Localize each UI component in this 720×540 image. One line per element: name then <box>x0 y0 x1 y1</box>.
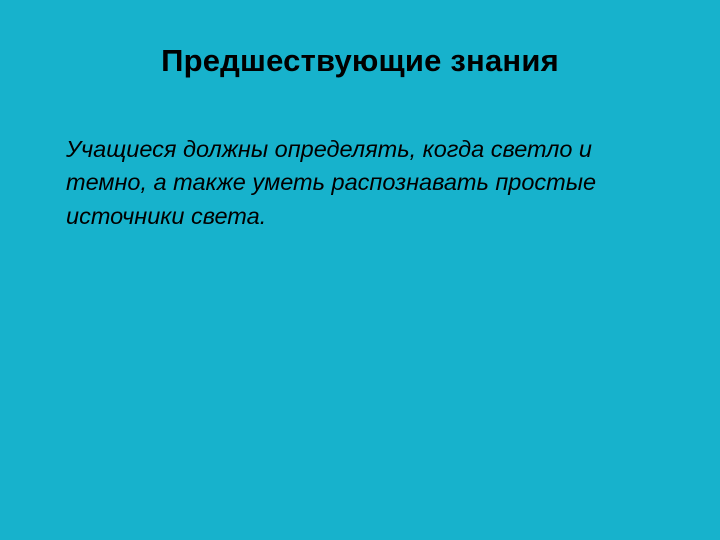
page-title: Предшествующие знания <box>0 44 720 78</box>
slide-canvas: Предшествующие знания Учащиеся должны оп… <box>0 0 720 540</box>
slide-body-text: Учащиеся должны определять, когда светло… <box>66 133 666 233</box>
